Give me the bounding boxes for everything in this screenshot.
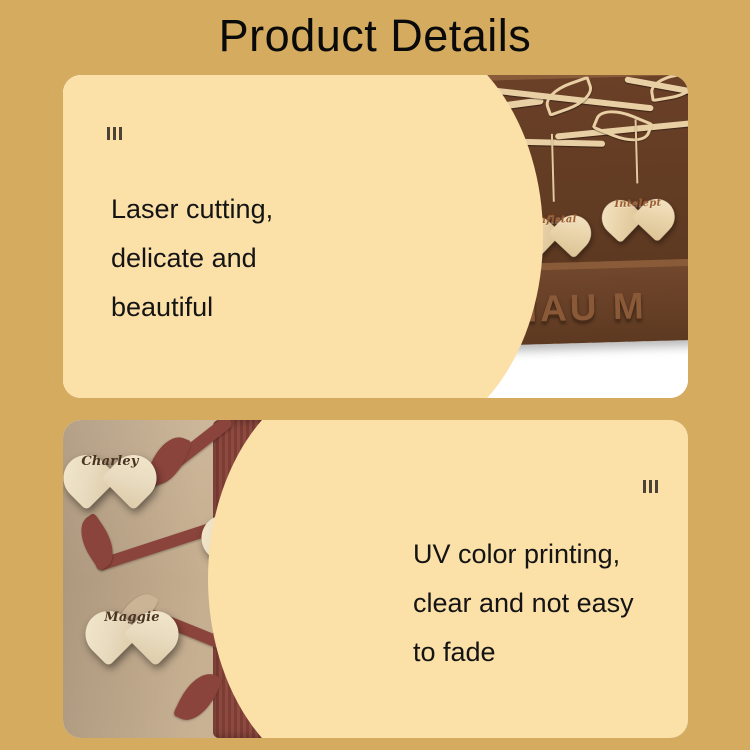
heart-tag: Maggie [95, 588, 169, 654]
feature-text-line: beautiful [111, 283, 273, 332]
heart-label: Intelept [609, 198, 667, 211]
feature-text-line: clear and not easy [413, 579, 634, 628]
detail-panel-laser-cutting: Positivo Saflstal Intelept Buon SANU UI … [63, 75, 688, 398]
detail-panel-uv-printing: Charley Althea Kylie Maggie Billy Brogan [63, 420, 688, 738]
feature-text-line: UV color printing, [413, 530, 634, 579]
heart-label: Maggie [95, 610, 169, 625]
feature-text-line: to fade [413, 628, 634, 677]
feature-text: Laser cutting, delicate and beautiful [111, 185, 273, 332]
page-title: Product Details [0, 8, 750, 64]
text-card-content: UV color printing, clear and not easy to… [388, 420, 688, 738]
feature-text: UV color printing, clear and not easy to… [413, 530, 634, 677]
text-card-content: Laser cutting, delicate and beautiful [63, 75, 353, 398]
heart-label: Charley [73, 454, 147, 469]
three-bars-icon [643, 480, 658, 493]
feature-text-line: delicate and [111, 234, 273, 283]
three-bars-icon [107, 127, 122, 140]
feature-text-line: Laser cutting, [111, 185, 273, 234]
heart-tag: Intelept [608, 181, 667, 235]
heart-tag: Charley [73, 432, 147, 498]
